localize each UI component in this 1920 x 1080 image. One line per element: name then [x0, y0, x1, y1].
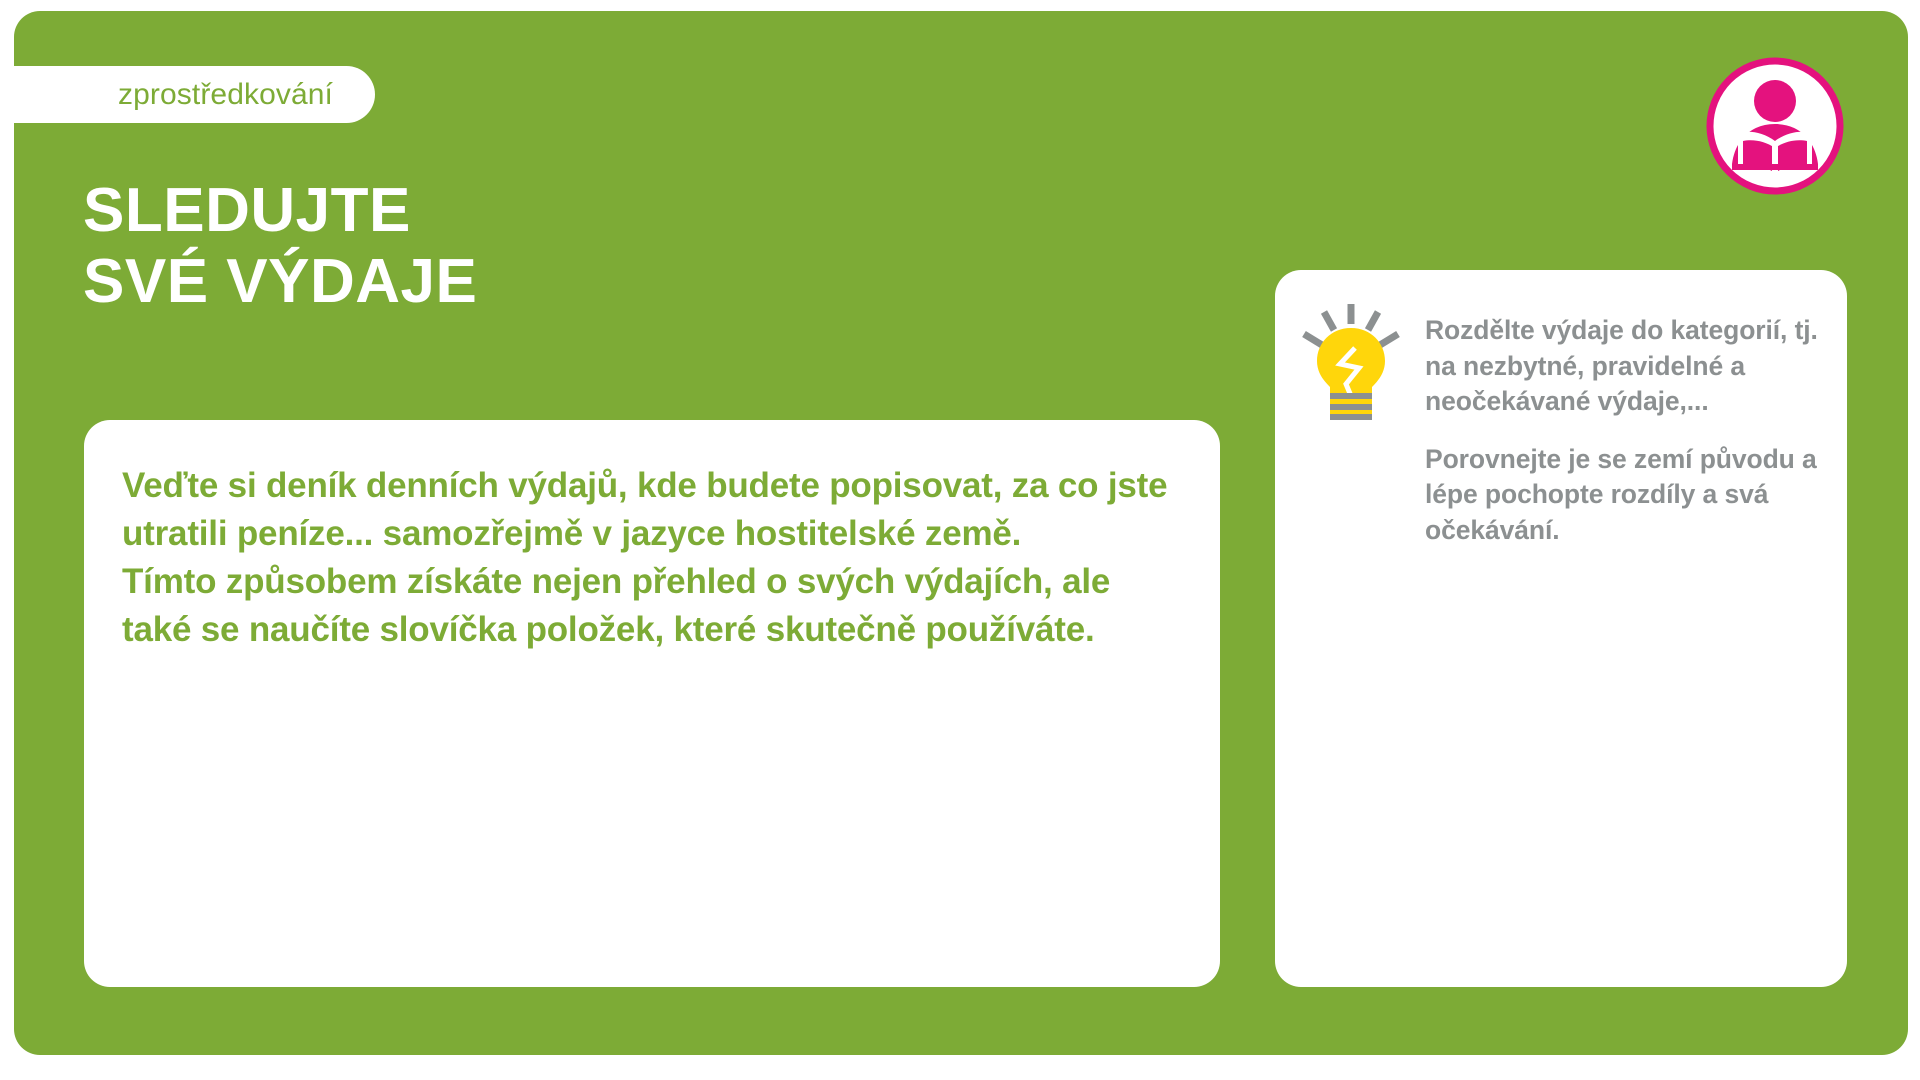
category-tab-label: zprostředkování — [118, 78, 333, 112]
page-title: SLEDUJTE SVÉ VÝDAJE — [83, 176, 477, 317]
lightbulb-icon — [1293, 300, 1413, 420]
tip-text-column: Rozdělte výdaje do kategorií, tj. na nez… — [1413, 290, 1825, 548]
tip-paragraph-2: Porovnejte je se zemí původu a lépe poch… — [1425, 442, 1825, 549]
main-content-text: Veďte si deník denních výdajů, kde budet… — [122, 462, 1174, 654]
tip-card: Rozdělte výdaje do kategorií, tj. na nez… — [1275, 270, 1847, 987]
category-tab: zprostředkování — [0, 66, 375, 123]
person-reading-book-logo — [1705, 56, 1845, 196]
main-content-card: Veďte si deník denních výdajů, kde budet… — [84, 420, 1220, 987]
tip-paragraph-1: Rozdělte výdaje do kategorií, tj. na nez… — [1425, 313, 1825, 420]
slide-root: zprostředkování SLEDUJTE SVÉ VÝDAJE Veďt… — [0, 0, 1920, 1080]
